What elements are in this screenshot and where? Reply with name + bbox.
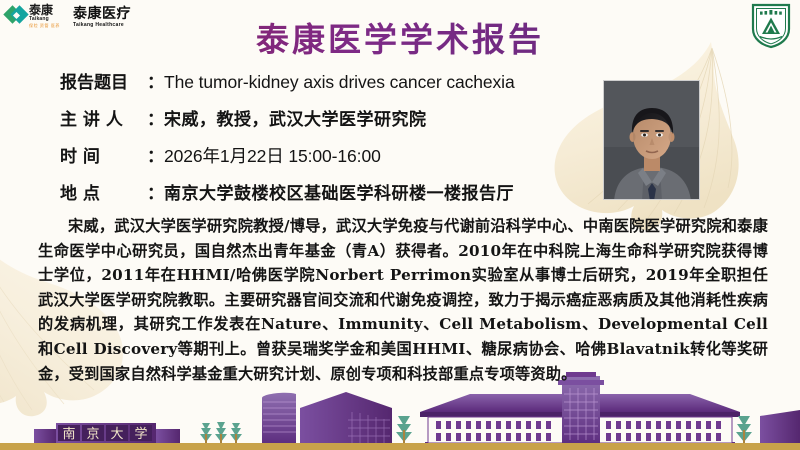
info-label: 地 点： — [60, 179, 164, 204]
taikang-diamond-icon — [6, 5, 26, 25]
report-title-value: The tumor-kidney axis drives cancer cach… — [164, 72, 515, 93]
info-label: 主 讲 人： — [60, 105, 164, 130]
library-building — [300, 392, 392, 443]
svg-text:南: 南 — [62, 426, 75, 442]
svg-text:学: 学 — [134, 426, 147, 442]
brand-logo-group: 泰康 Taikang 保险 资管 医养 泰康医疗 Taikang Healthc… — [6, 4, 131, 28]
ground-strip — [0, 443, 800, 450]
brand-tagline: 保险 资管 医养 — [29, 24, 60, 28]
tower-building — [262, 393, 296, 443]
tree-single — [396, 416, 412, 443]
svg-text:大: 大 — [110, 427, 123, 442]
tree-cluster — [200, 422, 242, 443]
poster-canvas: 泰康 Taikang 保险 资管 医养 泰康医疗 Taikang Healthc… — [0, 0, 800, 450]
nanjing-university-emblem — [750, 3, 792, 49]
info-row-report-title: 报告题目： The tumor-kidney axis drives cance… — [60, 68, 515, 105]
info-row-venue: 地 点： 南京大学鼓楼校区基础医学科研楼一楼报告厅 — [60, 179, 515, 216]
speaker-biography: 宋威，武汉大学医学研究院教授/博导，武汉大学免疫与代谢前沿科学中心、中南医院医学… — [38, 214, 768, 386]
info-label: 时 间： — [60, 142, 164, 167]
taikang-healthcare-logo: 泰康医疗 Taikang Healthcare — [73, 4, 131, 28]
info-row-speaker: 主 讲 人： 宋威，教授，武汉大学医学研究院 — [60, 105, 515, 142]
info-row-datetime: 时 间： 2026年1月22日 15:00-16:00 — [60, 142, 515, 179]
brand-primary-en: Taikang — [29, 17, 60, 22]
info-label: 报告题目： — [60, 68, 164, 93]
speaker-value: 宋威，教授，武汉大学医学研究院 — [164, 105, 427, 130]
tree-single — [736, 416, 752, 443]
taikang-diamond-logo: 泰康 Taikang 保险 资管 医养 — [6, 4, 60, 28]
campus-gate: 南 京 大 学 — [34, 423, 180, 443]
datetime-value: 2026年1月22日 15:00-16:00 — [164, 143, 381, 168]
speaker-portrait — [603, 80, 700, 200]
brand-secondary-en: Taikang Healthcare — [73, 23, 131, 28]
stadium-building — [760, 410, 800, 443]
brand-secondary-cn: 泰康医疗 — [73, 7, 131, 21]
event-info-list: 报告题目： The tumor-kidney axis drives cance… — [60, 68, 515, 216]
svg-text:京: 京 — [86, 427, 99, 442]
venue-value: 南京大学鼓楼校区基础医学科研楼一楼报告厅 — [164, 179, 514, 204]
brand-primary-cn: 泰康 — [29, 4, 60, 16]
